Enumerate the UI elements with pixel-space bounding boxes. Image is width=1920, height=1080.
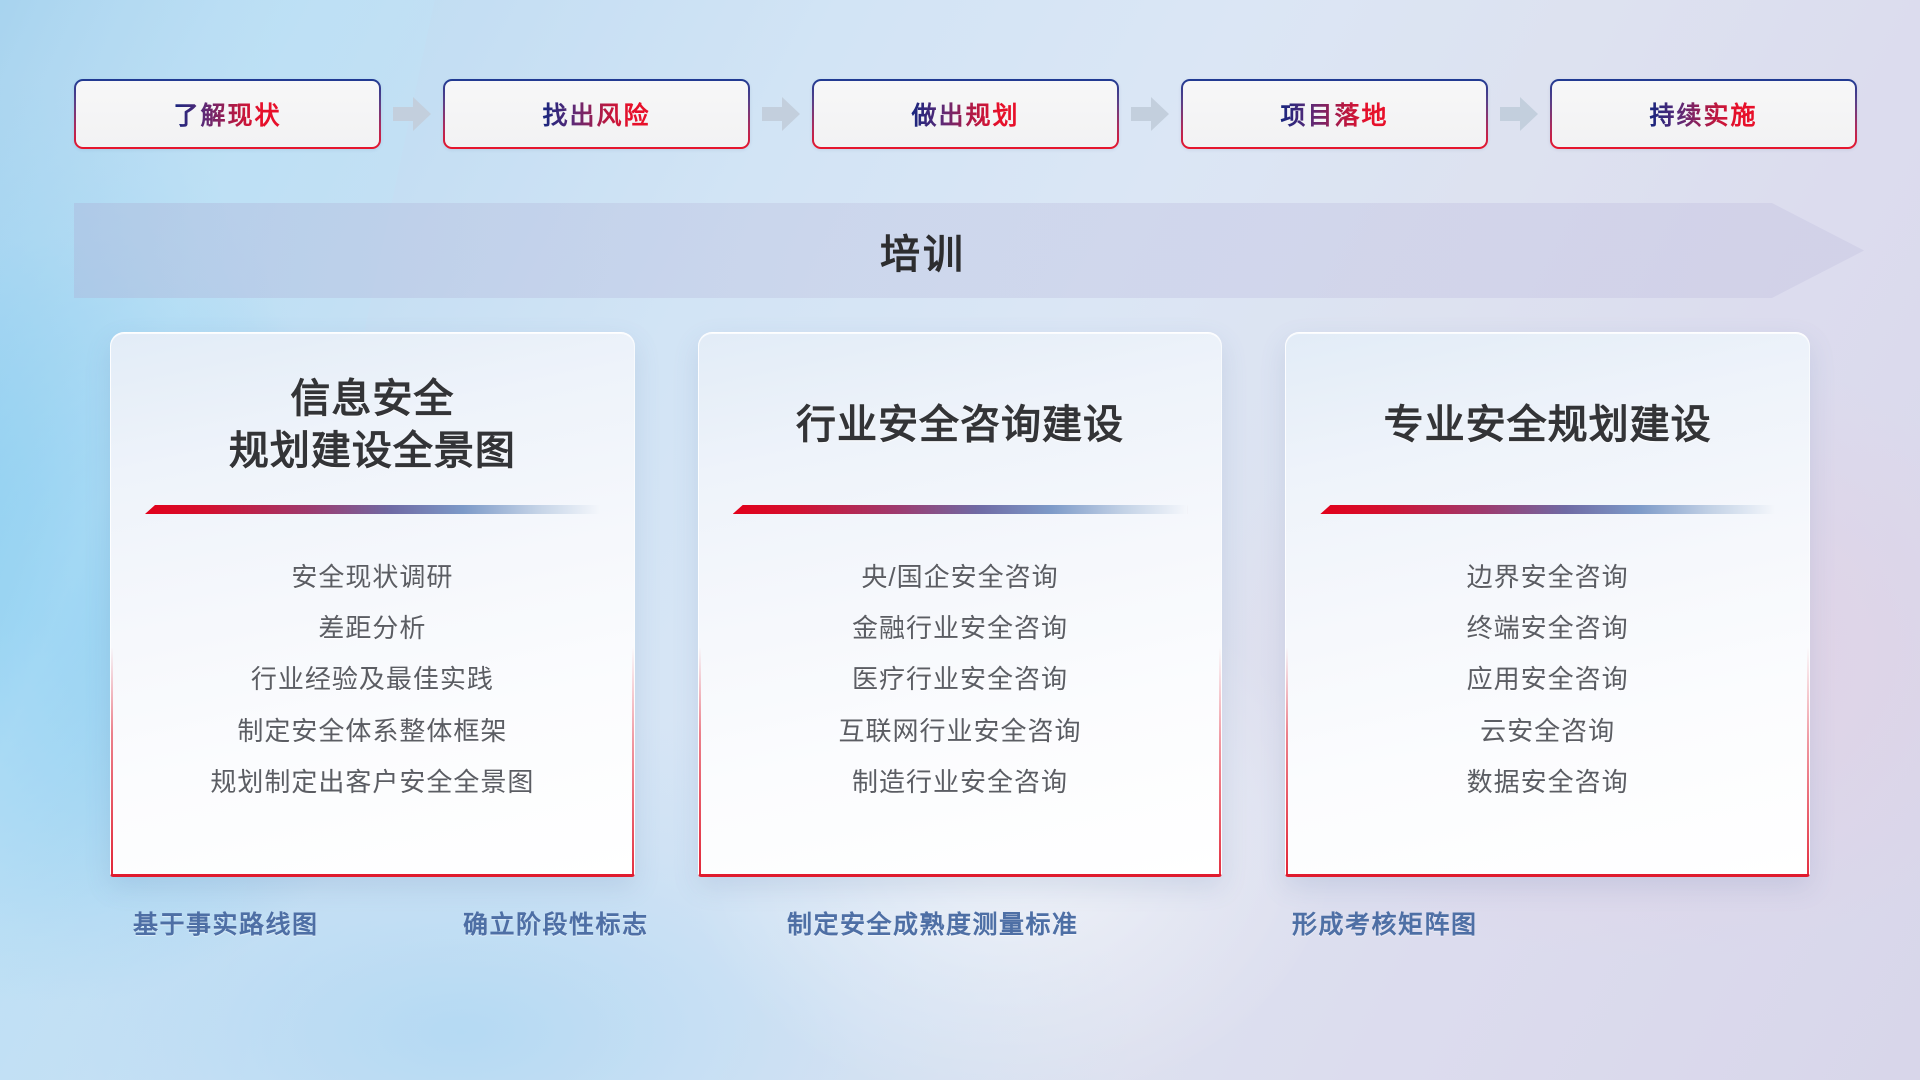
card-list-item: 制定安全体系整体框架	[237, 716, 507, 747]
process-step-2[interactable]: 找出风险	[443, 79, 750, 149]
process-step-label: 持续实施	[1649, 96, 1757, 132]
process-step-4[interactable]: 项目落地	[1181, 79, 1488, 149]
service-card-2[interactable]: 行业安全咨询建设央/国企安全咨询金融行业安全咨询医疗行业安全咨询互联网行业安全咨…	[698, 332, 1223, 877]
process-step-inner: 项目落地	[1183, 81, 1486, 147]
card-title-line: 规划建设全景图	[229, 425, 516, 477]
service-card-1[interactable]: 信息安全规划建设全景图安全现状调研差距分析行业经验及最佳实践制定安全体系整体框架…	[110, 332, 635, 877]
process-step-1[interactable]: 了解现状	[74, 79, 381, 149]
process-step-label: 做出规划	[911, 96, 1019, 132]
card-row: 信息安全规划建设全景图安全现状调研差距分析行业经验及最佳实践制定安全体系整体框架…	[110, 332, 1810, 877]
card-list-item: 终端安全咨询	[1467, 613, 1629, 644]
process-step-inner: 了解现状	[76, 81, 379, 147]
card-item-list: 央/国企安全咨询金融行业安全咨询医疗行业安全咨询互联网行业安全咨询制造行业安全咨…	[733, 562, 1188, 798]
card-list-item: 行业经验及最佳实践	[251, 664, 494, 695]
card-list-item: 应用安全咨询	[1467, 664, 1629, 695]
card-list-item: 数据安全咨询	[1467, 767, 1629, 798]
process-step-row: 了解现状找出风险做出规划项目落地持续实施	[74, 78, 1854, 150]
card-list-item: 医疗行业安全咨询	[852, 664, 1068, 695]
card-list-item: 边界安全咨询	[1467, 562, 1629, 593]
card-list-item: 规划制定出客户安全全景图	[210, 767, 534, 798]
bottom-label-row: 基于事实路线图确立阶段性标志制定安全成熟度测量标准形成考核矩阵图	[0, 905, 1920, 965]
bottom-label-1: 基于事实路线图	[133, 905, 319, 941]
card-accent-bar	[145, 505, 600, 514]
arrow-right-icon	[1119, 93, 1181, 135]
training-banner: 培训	[74, 203, 1864, 298]
service-card-3[interactable]: 专业安全规划建设边界安全咨询终端安全咨询应用安全咨询云安全咨询数据安全咨询	[1285, 332, 1810, 877]
card-list-item: 金融行业安全咨询	[852, 613, 1068, 644]
card-title-line: 专业安全规划建设	[1384, 399, 1712, 451]
arrow-right-icon	[750, 93, 812, 135]
arrow-right-icon	[1488, 93, 1550, 135]
card-list-item: 互联网行业安全咨询	[839, 716, 1082, 747]
process-step-3[interactable]: 做出规划	[812, 79, 1119, 149]
process-step-inner: 做出规划	[814, 81, 1117, 147]
card-list-item: 差距分析	[318, 613, 426, 644]
card-list-item: 安全现状调研	[291, 562, 453, 593]
process-step-inner: 持续实施	[1552, 81, 1855, 147]
bottom-label-3: 制定安全成熟度测量标准	[787, 905, 1079, 941]
card-title: 信息安全规划建设全景图	[229, 371, 516, 479]
process-step-5[interactable]: 持续实施	[1550, 79, 1857, 149]
banner-label: 培训	[74, 203, 1772, 298]
card-list-item: 云安全咨询	[1480, 716, 1615, 747]
process-step-inner: 找出风险	[445, 81, 748, 147]
bottom-label-2: 确立阶段性标志	[463, 905, 649, 941]
card-title-line: 信息安全	[229, 373, 516, 425]
card-title-line: 行业安全咨询建设	[796, 399, 1124, 451]
card-title: 专业安全规划建设	[1384, 371, 1712, 479]
arrow-right-icon	[381, 93, 443, 135]
process-step-label: 项目落地	[1280, 96, 1388, 132]
card-list-item: 央/国企安全咨询	[861, 562, 1058, 593]
card-item-list: 安全现状调研差距分析行业经验及最佳实践制定安全体系整体框架规划制定出客户安全全景…	[145, 562, 600, 798]
card-accent-bar	[1320, 505, 1775, 514]
card-accent-bar	[733, 505, 1188, 514]
card-list-item: 制造行业安全咨询	[852, 767, 1068, 798]
bottom-label-4: 形成考核矩阵图	[1292, 905, 1478, 941]
card-title: 行业安全咨询建设	[796, 371, 1124, 479]
card-item-list: 边界安全咨询终端安全咨询应用安全咨询云安全咨询数据安全咨询	[1320, 562, 1775, 798]
process-step-label: 了解现状	[173, 96, 281, 132]
process-step-label: 找出风险	[542, 96, 650, 132]
